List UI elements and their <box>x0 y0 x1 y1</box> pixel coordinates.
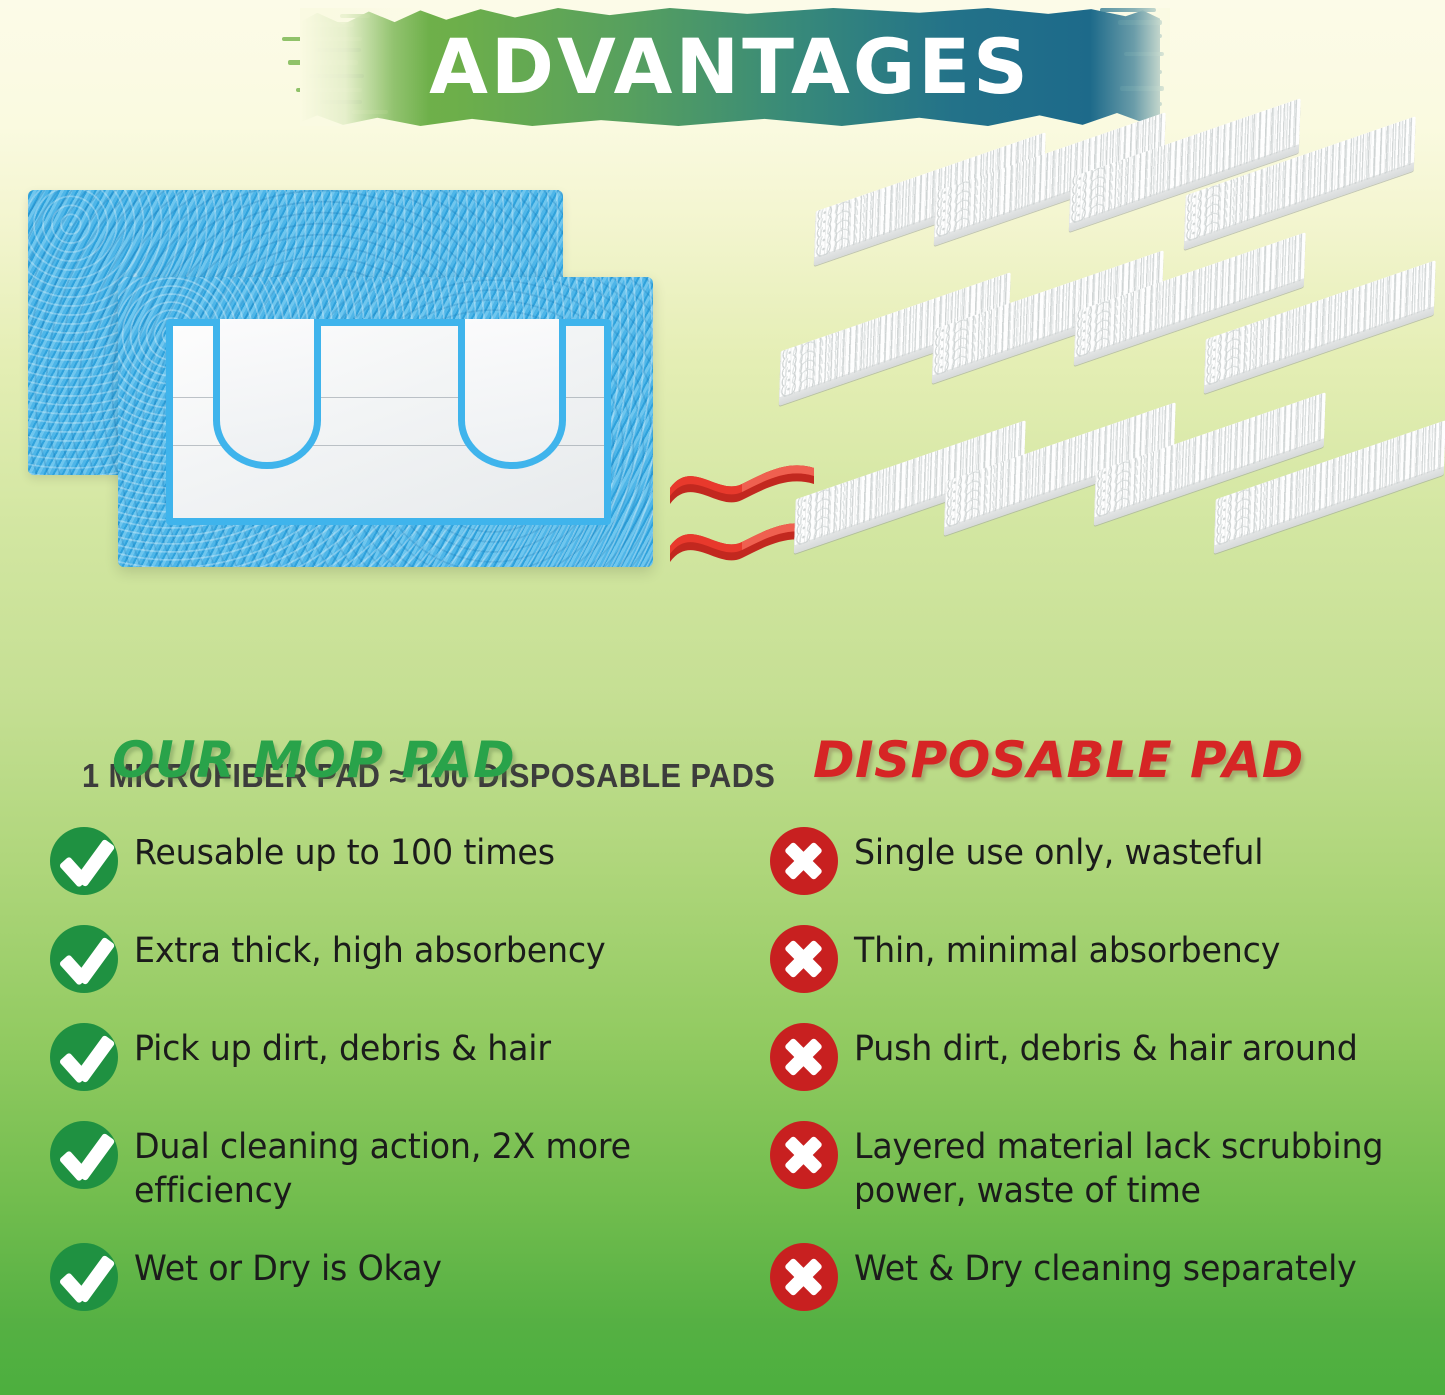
list-item-label: Reusable up to 100 times <box>134 831 555 875</box>
our-mop-pad-column: OUR MOP PAD Reusable up to 100 times Ext… <box>0 735 760 1345</box>
disposable-pad-column: DISPOSABLE PAD Single use only, wasteful… <box>760 735 1445 1345</box>
check-icon <box>50 1023 118 1091</box>
list-item-label: Extra thick, high absorbency <box>134 929 606 973</box>
disposable-pad-list: Single use only, wasteful Thin, minimal … <box>770 831 1445 1311</box>
list-item-label: Layered material lack scrubbing power, w… <box>854 1125 1415 1213</box>
list-item: Push dirt, debris & hair around <box>770 1027 1445 1091</box>
our-mop-pad-heading: OUR MOP PAD <box>112 735 760 785</box>
our-mop-pad-list: Reusable up to 100 times Extra thick, hi… <box>50 831 760 1311</box>
check-icon <box>50 1243 118 1311</box>
pad-backing-panel <box>166 319 611 525</box>
list-item: Pick up dirt, debris & hair <box>50 1027 760 1091</box>
list-item-label: Push dirt, debris & hair around <box>854 1027 1358 1071</box>
check-icon <box>50 1121 118 1189</box>
list-item: Reusable up to 100 times <box>50 831 760 895</box>
list-item-label: Dual cleaning action, 2X more efficiency <box>134 1125 685 1213</box>
pad-pocket-flap-left <box>213 319 321 469</box>
infographic-page: ADVANTAGES <box>0 0 1445 1395</box>
cross-icon <box>770 1023 838 1091</box>
cross-icon <box>770 1243 838 1311</box>
list-item: Dual cleaning action, 2X more efficiency <box>50 1125 760 1213</box>
cross-icon <box>770 1121 838 1189</box>
list-item: Wet or Dry is Okay <box>50 1247 760 1311</box>
cross-icon <box>770 827 838 895</box>
check-icon <box>50 827 118 895</box>
microfiber-pad-front-image <box>118 277 653 567</box>
list-item-label: Thin, minimal absorbency <box>854 929 1280 973</box>
header-banner: ADVANTAGES <box>0 0 1445 140</box>
list-item: Thin, minimal absorbency <box>770 929 1445 993</box>
comparison-section: OUR MOP PAD Reusable up to 100 times Ext… <box>0 735 1445 1395</box>
list-item-label: Single use only, wasteful <box>854 831 1263 875</box>
product-comparison-imagery: 1 MICROFIBER PAD ≈ 100 DISPOSABLE PADS <box>0 150 1445 605</box>
list-item: Extra thick, high absorbency <box>50 929 760 993</box>
disposable-pad-stacks <box>785 160 1435 600</box>
list-item-label: Wet or Dry is Okay <box>134 1247 442 1291</box>
check-icon <box>50 925 118 993</box>
pad-pocket-flap-right <box>458 319 566 469</box>
cross-icon <box>770 925 838 993</box>
list-item-label: Wet & Dry cleaning separately <box>854 1247 1357 1291</box>
page-title: ADVANTAGES <box>300 8 1160 126</box>
disposable-pad-heading: DISPOSABLE PAD <box>813 735 1445 785</box>
list-item: Single use only, wasteful <box>770 831 1445 895</box>
list-item: Layered material lack scrubbing power, w… <box>770 1125 1445 1213</box>
list-item-label: Pick up dirt, debris & hair <box>134 1027 551 1071</box>
list-item: Wet & Dry cleaning separately <box>770 1247 1445 1311</box>
